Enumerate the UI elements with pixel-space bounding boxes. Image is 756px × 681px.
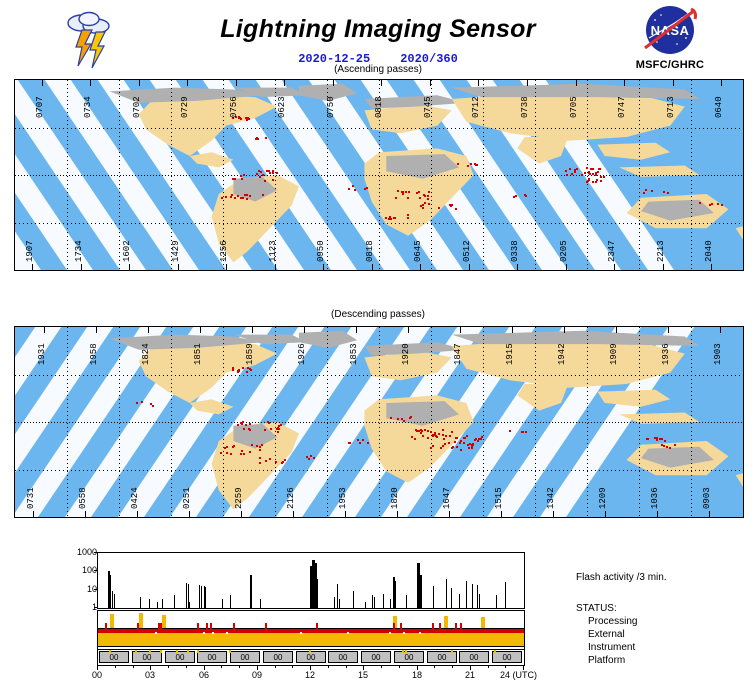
lightning-flash-point — [478, 438, 480, 440]
flash-bar — [383, 594, 384, 608]
descending-passes-label: (Descending passes) — [0, 309, 756, 320]
lightning-flash-point — [367, 442, 369, 444]
orbit-time-label-top: 1942 — [558, 333, 567, 365]
legend-platform: Platform — [588, 655, 625, 666]
platform-orbit-box[interactable]: 00 — [230, 651, 260, 663]
lightning-flash-point — [246, 371, 248, 373]
lightning-flash-point — [249, 423, 251, 425]
orbit-tick-bottom — [345, 511, 346, 517]
equator-line — [15, 175, 743, 176]
lightning-flash-point — [245, 424, 247, 426]
lightning-flash-point — [231, 194, 233, 196]
x-axis-label: 09 — [252, 670, 262, 680]
flash-bar — [162, 599, 163, 608]
x-axis-label: 12 — [305, 670, 315, 680]
lightning-flash-point — [390, 218, 392, 220]
lightning-flash-point — [422, 435, 424, 437]
orbit-tick-bottom — [293, 511, 294, 517]
orbit-time-label-bottom: 0903 — [703, 477, 712, 509]
lightning-flash-point — [259, 462, 261, 464]
flash-bar — [260, 599, 261, 608]
lightning-flash-point — [475, 164, 477, 166]
lightning-flash-point — [415, 429, 417, 431]
lightning-flash-point — [450, 205, 452, 207]
platform-orbit-box[interactable]: 00 — [492, 651, 522, 663]
orbit-tick-bottom — [501, 511, 502, 517]
lightning-flash-point — [401, 418, 403, 420]
lightning-flash-point — [603, 176, 605, 178]
orbit-time-label-bottom: 1429 — [172, 230, 181, 262]
lightning-flash-point — [472, 443, 474, 445]
lightning-flash-point — [366, 187, 368, 189]
lightning-flash-point — [464, 437, 466, 439]
lightning-flash-point — [240, 422, 242, 424]
lightning-flash-point — [432, 445, 434, 447]
flash-bar — [110, 581, 111, 608]
lightning-flash-point — [226, 452, 228, 454]
lightning-flash-point — [259, 457, 261, 459]
lightning-flash-point — [428, 203, 430, 205]
orbit-time-label-bottom: 1209 — [599, 477, 608, 509]
lightning-flash-point — [451, 447, 453, 449]
lightning-flash-point — [467, 444, 469, 446]
lightning-flash-point — [674, 444, 676, 446]
orbit-tick-bottom — [709, 511, 710, 517]
orbit-tick-bottom — [469, 264, 470, 270]
lightning-flash-point — [408, 191, 410, 193]
x-axis-tick — [399, 665, 400, 668]
lightning-flash-point — [667, 192, 669, 194]
instrument-band — [98, 633, 524, 646]
instrument-spike — [139, 613, 143, 628]
lightning-flash-point — [259, 446, 261, 448]
lightning-flash-point — [407, 197, 409, 199]
lightning-flash-point — [427, 198, 429, 200]
orbit-time-label-top: 1926 — [298, 333, 307, 365]
lightning-flash-point — [460, 449, 462, 451]
platform-spike — [494, 650, 496, 653]
orbit-time-label-bottom: 0645 — [414, 230, 423, 262]
lightning-flash-point — [221, 197, 223, 199]
flash-bar — [157, 602, 158, 608]
lightning-flash-point — [395, 197, 397, 199]
flash-bar — [479, 594, 480, 608]
orbit-time-label-bottom: 0424 — [131, 477, 140, 509]
lightning-flash-point — [451, 431, 453, 433]
lightning-flash-point — [474, 439, 476, 441]
status-gap-mark — [155, 632, 157, 634]
legend-external: External — [588, 629, 625, 640]
lightning-flash-point — [595, 174, 597, 176]
instrument-spike — [110, 614, 114, 628]
lightning-flash-point — [443, 438, 445, 440]
lightning-flash-point — [220, 452, 222, 454]
orbit-time-label-top: 1920 — [402, 333, 411, 365]
external-spike — [455, 623, 457, 633]
lightning-flash-point — [352, 185, 354, 187]
orbit-tick-bottom — [178, 264, 179, 270]
orbit-tick-bottom — [449, 511, 450, 517]
lightning-flash-point — [234, 197, 236, 199]
lightning-flash-point — [442, 429, 444, 431]
grid-line-horizontal — [15, 128, 743, 129]
orbit-time-label-top: 0738 — [521, 86, 530, 118]
flash-bar — [353, 591, 354, 608]
external-spike — [460, 623, 462, 633]
platform-spike — [160, 650, 162, 653]
orbit-time-label-bottom: 1907 — [26, 230, 35, 262]
orbit-time-label-top: 0712 — [472, 86, 481, 118]
lightning-flash-point — [243, 174, 245, 176]
orbit-time-label-top: 0745 — [424, 86, 433, 118]
lightning-flash-point — [249, 368, 251, 370]
flash-bar — [205, 587, 206, 608]
lightning-flash-point — [444, 443, 446, 445]
lightning-flash-point — [438, 207, 440, 209]
flash-bar — [459, 594, 460, 608]
page-header: Lightning Imaging Sensor 2020-12-252020/… — [0, 0, 756, 78]
orbit-time-label-bottom: 1647 — [443, 477, 452, 509]
nasa-meatball-logo-icon: NASA — [641, 4, 699, 58]
lightning-flash-point — [565, 170, 567, 172]
orbit-time-label-top: 1931 — [38, 333, 47, 365]
external-spike — [265, 623, 267, 633]
lightning-flash-point — [422, 204, 424, 206]
flash-bar — [372, 595, 373, 608]
lightning-flash-point — [592, 173, 594, 175]
lightning-flash-point — [308, 458, 310, 460]
lightning-flash-point — [234, 178, 236, 180]
flash-bar — [406, 595, 407, 608]
lightning-flash-point — [226, 446, 228, 448]
lightning-flash-point — [599, 168, 601, 170]
platform-strip[interactable]: 00000000000000000000000000 — [97, 649, 525, 666]
lightning-flash-point — [237, 371, 239, 373]
lightning-flash-point — [455, 208, 457, 210]
lightning-flash-point — [522, 431, 524, 433]
platform-orbit-box[interactable]: 00 — [99, 651, 129, 663]
instrument-spike — [444, 616, 448, 628]
lightning-flash-point — [362, 439, 364, 441]
orbit-tick-bottom — [323, 264, 324, 270]
lightning-flash-point — [466, 435, 468, 437]
x-axis-tick — [275, 665, 276, 668]
platform-orbit-box[interactable]: 00 — [296, 651, 326, 663]
x-axis-tick — [505, 665, 506, 668]
lightning-flash-point — [240, 197, 242, 199]
platform-spike — [109, 650, 111, 653]
lightning-flash-point — [265, 460, 267, 462]
lightning-flash-point — [349, 442, 351, 444]
lightning-flash-point — [241, 450, 243, 452]
x-axis-label: 21 — [465, 670, 475, 680]
orbit-time-label-bottom: 1342 — [547, 477, 556, 509]
flash-bar — [420, 575, 422, 608]
status-gap-mark — [403, 632, 405, 634]
lightning-flash-point — [420, 432, 422, 434]
platform-orbit-box[interactable]: 00 — [361, 651, 391, 663]
y-axis-label: 1000 — [63, 547, 97, 557]
flash-bar — [149, 599, 150, 608]
orbit-time-label-top: 0756 — [230, 86, 239, 118]
platform-orbit-box[interactable]: 00 — [165, 651, 195, 663]
orbit-tick-bottom — [657, 511, 658, 517]
lightning-flash-point — [267, 421, 269, 423]
orbit-tick-bottom — [372, 264, 373, 270]
legend-instrument: Instrument — [588, 642, 635, 653]
lightning-flash-point — [272, 179, 274, 181]
lightning-flash-point — [457, 163, 459, 165]
lightning-flash-point — [262, 174, 264, 176]
flash-bar — [222, 599, 223, 608]
flash-bar — [505, 582, 506, 608]
external-spike — [393, 623, 395, 633]
lightning-flash-point — [348, 188, 350, 190]
orbit-time-label-top: 1915 — [506, 333, 515, 365]
external-spike — [439, 623, 441, 633]
orbit-time-label-bottom: 1515 — [495, 477, 504, 509]
lightning-flash-point — [663, 191, 665, 193]
orbit-time-label-top: 0640 — [715, 86, 724, 118]
map-ascending-passes[interactable]: 0707073407020729075606230750081807450712… — [14, 79, 744, 271]
flash-bar — [189, 602, 190, 608]
lightning-flash-point — [249, 195, 251, 197]
orbit-tick-bottom — [614, 264, 615, 270]
lightning-flash-point — [581, 174, 583, 176]
lightning-flash-point — [262, 194, 264, 196]
x-axis-tick — [328, 665, 329, 668]
orbit-time-label-bottom: 0818 — [366, 230, 375, 262]
lightning-flash-point — [313, 457, 315, 459]
lightning-flash-point — [416, 192, 418, 194]
platform-orbit-box[interactable]: 00 — [394, 651, 424, 663]
orbit-time-label-bottom: 0251 — [183, 477, 192, 509]
lightning-flash-point — [264, 429, 266, 431]
lightning-flash-point — [243, 453, 245, 455]
orbit-time-label-top: 0750 — [327, 86, 336, 118]
lightning-flash-point — [248, 118, 250, 120]
utc-axis-label: 24 (UTC) — [500, 670, 537, 680]
lightning-flash-point — [256, 445, 258, 447]
grid-line-horizontal — [15, 375, 743, 376]
orbit-time-label-top: 0734 — [84, 86, 93, 118]
lightning-flash-point — [402, 193, 404, 195]
status-gap-mark — [212, 632, 214, 634]
flash-bar — [199, 585, 200, 608]
platform-orbit-box[interactable]: 00 — [197, 651, 227, 663]
lightning-flash-point — [600, 180, 602, 182]
map-descending-passes[interactable]: 1931195818241851185919261853192018471915… — [14, 326, 744, 518]
lightning-flash-point — [428, 191, 430, 193]
lightning-flash-point — [592, 181, 594, 183]
orbit-time-label-bottom: 0512 — [463, 230, 472, 262]
lightning-flash-point — [595, 181, 597, 183]
lightning-flash-point — [424, 429, 426, 431]
lightning-flash-point — [242, 197, 244, 199]
lightning-flash-point — [430, 447, 432, 449]
activity-panel: 1000100101 00000000000000000000000000 00… — [0, 548, 756, 680]
platform-spike — [187, 650, 189, 653]
lightning-flash-point — [664, 440, 666, 442]
lightning-flash-point — [586, 167, 588, 169]
orbit-time-label-bottom: 1820 — [391, 477, 400, 509]
platform-orbit-box[interactable]: 00 — [459, 651, 489, 663]
lightning-flash-point — [442, 434, 444, 436]
flash-bar — [114, 594, 115, 608]
lightning-flash-point — [463, 442, 465, 444]
lightning-flash-point — [468, 447, 470, 449]
lightning-flash-point — [571, 173, 573, 175]
lightning-flash-point — [440, 447, 442, 449]
lightning-flash-point — [661, 444, 663, 446]
lightning-flash-point — [272, 172, 274, 174]
orbit-time-label-bottom: 0338 — [511, 230, 520, 262]
lightning-flash-point — [237, 424, 239, 426]
lightning-flash-point — [651, 190, 653, 192]
x-axis-label: 06 — [199, 670, 209, 680]
platform-orbit-box[interactable]: 00 — [263, 651, 293, 663]
platform-spike — [135, 650, 137, 653]
lightning-flash-point — [230, 196, 232, 198]
lightning-flash-point — [449, 435, 451, 437]
platform-spike — [229, 650, 231, 653]
orbit-tick-bottom — [275, 264, 276, 270]
orbit-time-label-top: 1847 — [454, 333, 463, 365]
x-axis-label: 03 — [145, 670, 155, 680]
orbit-time-label-bottom: 1256 — [220, 230, 229, 262]
lightning-flash-point — [411, 436, 413, 438]
lightning-flash-point — [432, 435, 434, 437]
orbit-time-label-bottom: 0950 — [317, 230, 326, 262]
platform-orbit-box[interactable]: 00 — [328, 651, 358, 663]
lightning-flash-point — [277, 431, 279, 433]
lightning-flash-point — [459, 442, 461, 444]
lightning-flash-point — [669, 447, 671, 449]
orbit-tick-bottom — [189, 511, 190, 517]
orbit-time-label-top: 0729 — [181, 86, 190, 118]
lightning-flash-point — [566, 174, 568, 176]
lightning-flash-point — [276, 172, 278, 174]
flash-bar — [186, 583, 187, 608]
orbit-time-label-top: 0818 — [375, 86, 384, 118]
flash-bar — [339, 599, 340, 608]
lightning-flash-point — [438, 433, 440, 435]
lightning-flash-point — [265, 137, 267, 139]
lightning-flash-point — [584, 172, 586, 174]
orbit-time-label-top: 1859 — [246, 333, 255, 365]
lightning-flash-point — [246, 194, 248, 196]
lightning-flash-point — [397, 418, 399, 420]
orbit-time-label-top: 1958 — [90, 333, 99, 365]
lightning-flash-point — [588, 172, 590, 174]
lightning-flash-point — [420, 429, 422, 431]
platform-spike — [402, 650, 404, 653]
legend-processing: Processing — [588, 616, 637, 627]
lightning-flash-point — [354, 189, 356, 191]
lightning-flash-point — [646, 438, 648, 440]
platform-spike — [405, 650, 407, 653]
orbit-time-label-top: 1853 — [350, 333, 359, 365]
x-axis-tick — [452, 665, 453, 668]
external-spike — [432, 623, 434, 633]
orbit-time-label-bottom: 1953 — [339, 477, 348, 509]
external-spike — [137, 623, 139, 633]
platform-spike — [149, 650, 151, 653]
platform-spike — [197, 650, 199, 653]
lightning-flash-point — [410, 416, 412, 418]
lightning-flash-point — [241, 178, 243, 180]
flash-bar — [374, 597, 375, 608]
legend-status-title: STATUS: — [576, 603, 617, 614]
orbit-tick-bottom — [137, 511, 138, 517]
lightning-flash-point — [661, 438, 663, 440]
status-gap-mark — [226, 632, 228, 634]
lightning-flash-point — [242, 367, 244, 369]
lightning-flash-point — [470, 163, 472, 165]
lightning-flash-point — [427, 195, 429, 197]
y-axis-label: 100 — [63, 565, 97, 575]
lightning-flash-point — [445, 435, 447, 437]
flash-bar — [334, 597, 335, 608]
flash-activity-chart[interactable] — [97, 552, 525, 609]
status-gap-mark — [347, 632, 349, 634]
lightning-flash-point — [141, 401, 143, 403]
lightning-flash-point — [249, 451, 251, 453]
lightning-flash-point — [275, 461, 277, 463]
orbit-tick-bottom — [226, 264, 227, 270]
orbit-time-label-top: 0747 — [618, 86, 627, 118]
lightning-flash-point — [403, 420, 405, 422]
grid-line-horizontal — [15, 470, 743, 471]
orbit-time-label-bottom: 0558 — [79, 477, 88, 509]
flash-bar — [317, 579, 318, 608]
orbit-time-label-top: 0623 — [278, 86, 287, 118]
flash-bar — [496, 595, 497, 608]
lightning-flash-point — [390, 417, 392, 419]
lightning-flash-point — [240, 175, 242, 177]
status-gap-mark — [300, 632, 302, 634]
lightning-flash-point — [419, 197, 421, 199]
lightning-flash-point — [699, 202, 701, 204]
x-axis-tick — [115, 665, 116, 668]
flash-bar — [174, 595, 175, 608]
lightning-flash-point — [152, 405, 154, 407]
lightning-flash-point — [281, 462, 283, 464]
lightning-flash-point — [357, 439, 359, 441]
lightning-flash-point — [430, 431, 432, 433]
lightning-flash-point — [277, 427, 279, 429]
status-gap-mark — [389, 632, 391, 634]
lightning-flash-point — [393, 217, 395, 219]
lightning-flash-point — [306, 456, 308, 458]
orbit-tick-bottom — [517, 264, 518, 270]
lightning-flash-point — [418, 191, 420, 193]
orbit-tick-bottom — [566, 264, 567, 270]
orbit-tick-bottom — [553, 511, 554, 517]
status-strip[interactable] — [97, 610, 525, 650]
flash-bar — [395, 581, 396, 608]
lightning-flash-point — [269, 458, 271, 460]
flash-bar — [112, 591, 113, 608]
x-axis-tick — [186, 665, 187, 668]
lightning-flash-point — [260, 171, 262, 173]
orbit-time-label-top: 1909 — [610, 333, 619, 365]
lightning-flash-point — [249, 429, 251, 431]
lightning-flash-point — [242, 421, 244, 423]
status-separator — [98, 646, 524, 647]
platform-spike — [309, 650, 311, 653]
orbit-tick-bottom — [241, 511, 242, 517]
